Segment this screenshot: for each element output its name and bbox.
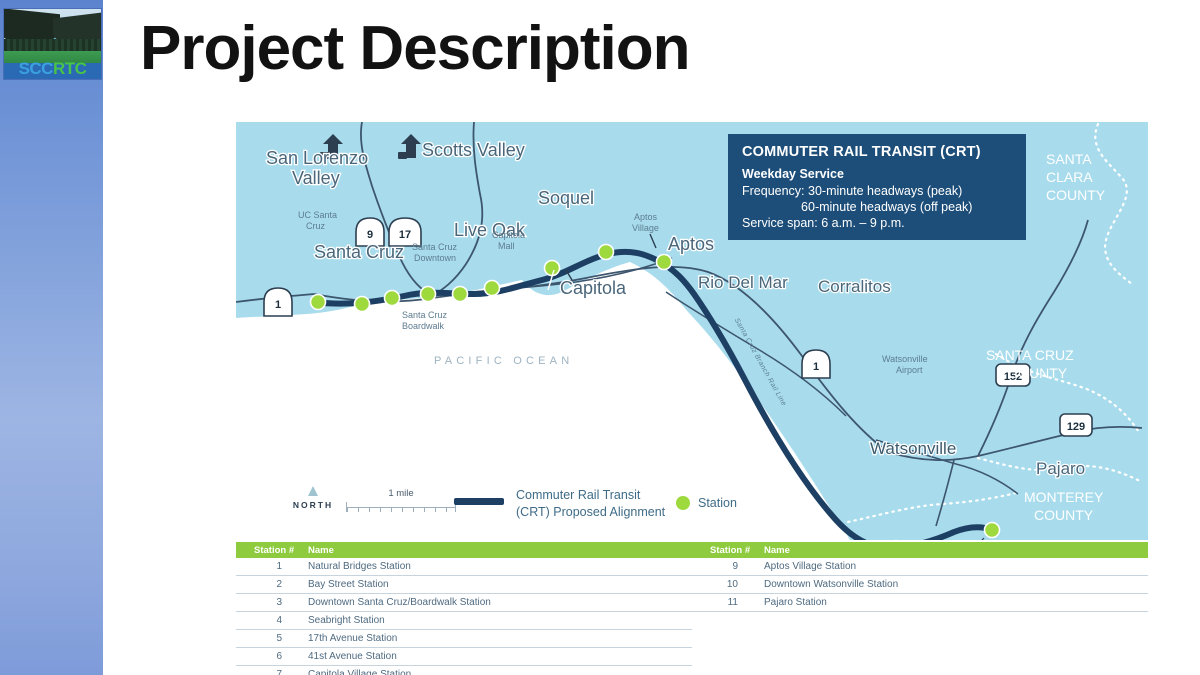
- label-watsonville-airport-1: Watsonville: [882, 354, 928, 364]
- station-dot-8: [599, 245, 614, 260]
- table-row: 7Capitola Village Station: [236, 666, 692, 675]
- station-dot-9: [657, 255, 672, 270]
- label-corralitos: Corralitos: [818, 277, 891, 296]
- crt-info-box: COMMUTER RAIL TRANSIT (CRT) Weekday Serv…: [728, 134, 1026, 240]
- scale-bar: 1 mile: [346, 488, 456, 512]
- station-dot-5: [453, 287, 468, 302]
- station-dot-1: [311, 295, 326, 310]
- station-dot-6: [485, 281, 500, 296]
- callout-sc-downtown-2: Downtown: [414, 253, 456, 263]
- stations-table-header-right: Station # Name: [692, 545, 1148, 556]
- north-arrow-icon: [308, 486, 318, 496]
- stations-table-column-left: 1Natural Bridges Station2Bay Street Stat…: [236, 558, 692, 675]
- label-pajaro: Pajaro: [1036, 459, 1085, 478]
- callout-capitola-mall-2: Mall: [498, 241, 515, 251]
- station-number: 5: [236, 633, 296, 644]
- county-border-santa-clara: [1095, 124, 1132, 284]
- slide-sidebar: [0, 0, 103, 675]
- legend-alignment-swatch: [454, 498, 504, 505]
- sccrtc-logo: SCCRTC: [3, 8, 102, 80]
- label-pacific-ocean: PACIFIC OCEAN: [434, 355, 573, 367]
- station-number: 7: [236, 669, 296, 675]
- info-box-heading: COMMUTER RAIL TRANSIT (CRT): [742, 144, 1012, 160]
- station-dot-4: [421, 287, 436, 302]
- svg-text:1: 1: [813, 361, 819, 373]
- table-row: 1Natural Bridges Station: [236, 558, 692, 576]
- legend-alignment-label: Commuter Rail Transit (CRT) Proposed Ali…: [516, 487, 665, 521]
- scale-bar-graphic: [346, 502, 456, 512]
- map-legend: NORTH 1 mile Commuter Rail Transit (CRT)…: [236, 480, 1148, 538]
- label-santa-cruz-county-1: SANTA CRUZ: [986, 347, 1074, 363]
- label-rio-del-mar: Rio Del Mar: [698, 273, 788, 292]
- label-san-lorenzo-valley: Valley: [292, 168, 340, 188]
- station-name: Bay Street Station: [296, 579, 692, 590]
- station-dot-2: [355, 297, 370, 312]
- info-box-subheading: Weekday Service: [742, 167, 1012, 181]
- stations-table-body: 1Natural Bridges Station2Bay Street Stat…: [236, 558, 1148, 675]
- sidebar-edge-highlight: [103, 0, 107, 675]
- label-san-lorenzo: San Lorenzo: [266, 148, 368, 168]
- legend-station-label: Station: [698, 496, 737, 510]
- station-number: 6: [236, 651, 296, 662]
- station-name: 41st Avenue Station: [296, 651, 692, 662]
- route-shield-129: 129: [1060, 414, 1092, 436]
- station-number: 3: [236, 597, 296, 608]
- stations-table-header: Station # Name Station # Name: [236, 542, 1148, 558]
- stations-table-column-right: 9Aptos Village Station10Downtown Watsonv…: [692, 558, 1148, 675]
- svg-text:17: 17: [399, 229, 411, 241]
- label-santa-cruz-county-2: COUNTY: [1008, 365, 1068, 381]
- callout-sc-downtown-1: Santa Cruz: [412, 242, 458, 252]
- stations-table: Station # Name Station # Name 1Natural B…: [236, 542, 1148, 675]
- label-soquel: Soquel: [538, 188, 594, 208]
- table-row: 2Bay Street Station: [236, 576, 692, 594]
- table-row: 10Downtown Watsonville Station: [692, 576, 1148, 594]
- svg-text:129: 129: [1067, 421, 1085, 433]
- station-dot-7: [545, 261, 560, 276]
- station-name: Aptos Village Station: [752, 561, 1148, 572]
- label-uc-santa-cruz-1: UC Santa: [298, 210, 337, 220]
- label-santa-cruz: Santa Cruz: [314, 242, 404, 262]
- callout-sc-boardwalk-2: Boardwalk: [402, 321, 445, 331]
- label-watsonville: Watsonville: [870, 439, 956, 458]
- route-shield-1-east: 1: [802, 350, 830, 378]
- label-capitola: Capitola: [560, 278, 627, 298]
- legend-station-swatch: [676, 496, 690, 510]
- label-aptos: Aptos: [668, 234, 714, 254]
- station-name: Downtown Watsonville Station: [752, 579, 1148, 590]
- station-number: 11: [692, 597, 752, 608]
- station-name: Downtown Santa Cruz/Boardwalk Station: [296, 597, 692, 608]
- station-name: Seabright Station: [296, 615, 692, 626]
- callout-sc-boardwalk-1: Santa Cruz: [402, 310, 448, 320]
- station-name: Natural Bridges Station: [296, 561, 692, 572]
- station-number: 4: [236, 615, 296, 626]
- info-box-frequency-offpeak: 60-minute headways (off peak): [742, 199, 1012, 215]
- legend-alignment-label-line1: Commuter Rail Transit: [516, 487, 665, 504]
- stations-table-header-left: Station # Name: [236, 545, 692, 556]
- label-santa-clara-county-2: CLARA: [1046, 169, 1093, 185]
- table-row: 3Downtown Santa Cruz/Boardwalk Station: [236, 594, 692, 612]
- station-number: 9: [692, 561, 752, 572]
- scale-bar-label: 1 mile: [346, 488, 456, 499]
- legend-alignment-label-line2: (CRT) Proposed Alignment: [516, 504, 665, 521]
- station-number: 10: [692, 579, 752, 590]
- info-box-frequency-peak: Frequency: 30-minute headways (peak): [742, 183, 1012, 199]
- label-santa-clara-county-1: SANTA: [1046, 151, 1092, 167]
- project-map: Santa Cruz Branch Rail Line 9 17: [236, 122, 1148, 540]
- table-row: 4Seabright Station: [236, 612, 692, 630]
- transit-arrow-icon-scottsvalley: [398, 134, 421, 159]
- route-shield-1-west: 1: [264, 288, 292, 316]
- north-label: NORTH: [278, 500, 348, 510]
- header-station-number-left: Station #: [236, 545, 296, 556]
- header-station-name-right: Name: [752, 545, 1148, 556]
- callout-leader-wville-downtown: [962, 538, 984, 540]
- station-number: 1: [236, 561, 296, 572]
- station-number: 2: [236, 579, 296, 590]
- callout-aptos-village-2: Village: [632, 223, 659, 233]
- label-watsonville-airport-2: Airport: [896, 365, 923, 375]
- logo-wordmark: SCCRTC: [4, 60, 101, 80]
- svg-text:9: 9: [367, 229, 373, 241]
- scale-bar-ticks: [347, 507, 455, 512]
- table-row: 11Pajaro Station: [692, 594, 1148, 612]
- logo-wordmark-scc: SCC: [19, 59, 53, 78]
- station-dot-3: [385, 291, 400, 306]
- station-name: Pajaro Station: [752, 597, 1148, 608]
- page-title: Project Description: [140, 16, 689, 81]
- label-scotts-valley: Scotts Valley: [422, 140, 525, 160]
- table-row: 517th Avenue Station: [236, 630, 692, 648]
- svg-text:1: 1: [275, 299, 281, 311]
- label-uc-santa-cruz-2: Cruz: [306, 221, 326, 231]
- header-station-name-left: Name: [296, 545, 692, 556]
- station-name: Capitola Village Station: [296, 669, 692, 675]
- station-name: 17th Avenue Station: [296, 633, 692, 644]
- logo-wordmark-rtc: RTC: [53, 59, 86, 78]
- callout-aptos-village-1: Aptos: [634, 212, 658, 222]
- callout-capitola-mall-1: Capitola: [492, 230, 525, 240]
- table-row: 9Aptos Village Station: [692, 558, 1148, 576]
- callout-leader-aptos-village: [650, 234, 656, 248]
- info-box-service-span: Service span: 6 a.m. – 9 p.m.: [742, 215, 1012, 231]
- table-row: 641st Avenue Station: [236, 648, 692, 666]
- north-arrow: NORTH: [278, 486, 348, 510]
- header-station-number-right: Station #: [692, 545, 752, 556]
- label-santa-clara-county-3: COUNTY: [1046, 187, 1106, 203]
